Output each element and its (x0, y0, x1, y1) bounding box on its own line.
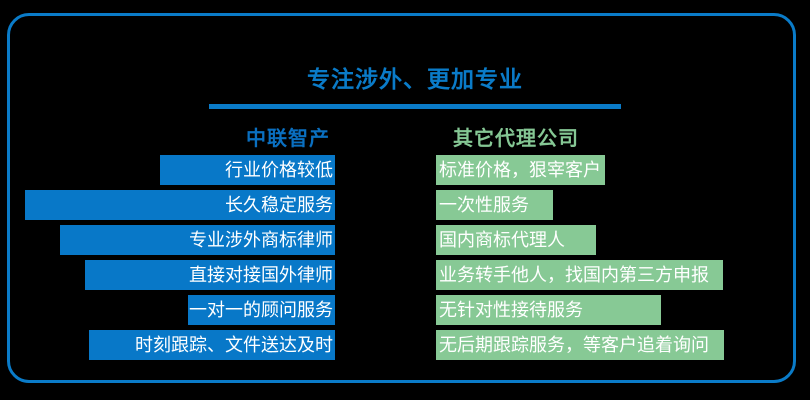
column-header-right: 其它代理公司 (453, 122, 579, 151)
title-divider (209, 104, 621, 109)
comparison-bar-right: 无后期跟踪服务，等客户追着询问 (436, 330, 724, 360)
comparison-bar-right: 一次性服务 (436, 190, 553, 220)
comparison-row: 一对一的顾问服务无针对性接待服务 (3, 295, 810, 325)
comparison-row: 长久稳定服务一次性服务 (3, 190, 810, 220)
column-header-left: 中联智产 (218, 122, 358, 151)
comparison-row: 行业价格较低标准价格，狠宰客户 (3, 155, 810, 185)
comparison-bar-right: 业务转手他人，找国内第三方申报 (436, 260, 723, 290)
comparison-card-frame: 专注涉外、更加专业 中联智产 其它代理公司 行业价格较低标准价格，狠宰客户长久稳… (7, 13, 796, 383)
comparison-bar-right: 标准价格，狠宰客户 (436, 155, 605, 185)
comparison-bar-right: 国内商标代理人 (436, 225, 596, 255)
comparison-row: 直接对接国外律师业务转手他人，找国内第三方申报 (3, 260, 810, 290)
advantage-bar-left: 时刻跟踪、文件送达及时 (89, 330, 335, 360)
comparison-row: 专业涉外商标律师国内商标代理人 (3, 225, 810, 255)
page-title: 专注涉外、更加专业 (10, 60, 810, 94)
comparison-bar-right: 无针对性接待服务 (436, 295, 661, 325)
advantage-bar-left: 专业涉外商标律师 (60, 225, 335, 255)
advantage-bar-left: 长久稳定服务 (25, 190, 335, 220)
advantage-bar-left: 行业价格较低 (160, 155, 335, 185)
advantage-bar-left: 一对一的顾问服务 (188, 295, 335, 325)
comparison-row: 时刻跟踪、文件送达及时无后期跟踪服务，等客户追着询问 (3, 330, 810, 360)
advantage-bar-left: 直接对接国外律师 (85, 260, 335, 290)
